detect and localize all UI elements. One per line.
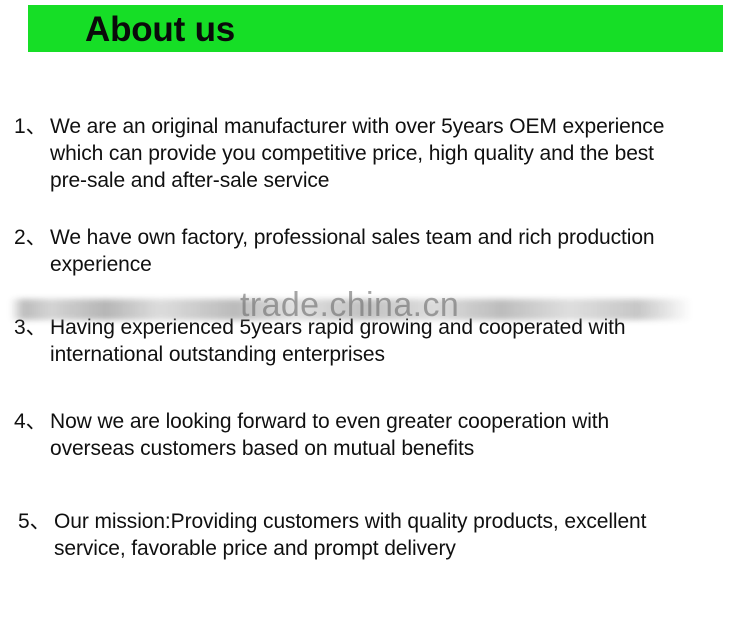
about-us-list: 1、 We are an original manufacturer with … bbox=[0, 113, 750, 562]
list-item-marker: 3、 bbox=[14, 314, 50, 341]
list-item-marker: 4、 bbox=[14, 408, 50, 435]
about-us-page: About us 1、 We are an original manufactu… bbox=[0, 0, 750, 636]
list-item-text: Now we are looking forward to even great… bbox=[50, 408, 722, 462]
list-item-row: 4、 Now we are looking forward to even gr… bbox=[0, 408, 750, 462]
list-item-text: We are an original manufacturer with ove… bbox=[50, 113, 722, 194]
list-item: 3、 Having experienced 5years rapid growi… bbox=[0, 314, 750, 368]
list-item-marker: 1、 bbox=[14, 113, 50, 140]
list-item-text: We have own factory, professional sales … bbox=[50, 224, 722, 278]
list-item-row: 3、 Having experienced 5years rapid growi… bbox=[0, 314, 750, 368]
list-item: 1、 We are an original manufacturer with … bbox=[0, 113, 750, 194]
list-item-marker: 5、 bbox=[18, 508, 54, 535]
list-item: 5、 Our mission:Providing customers with … bbox=[0, 508, 750, 562]
list-item-row: 2、 We have own factory, professional sal… bbox=[0, 224, 750, 278]
list-item: 2、 We have own factory, professional sal… bbox=[0, 224, 750, 278]
header-banner: About us bbox=[28, 5, 723, 52]
list-item-row: 1、 We are an original manufacturer with … bbox=[0, 113, 750, 194]
page-title: About us bbox=[85, 9, 235, 51]
list-item-text: Our mission:Providing customers with qua… bbox=[54, 508, 726, 562]
list-item-marker: 2、 bbox=[14, 224, 50, 251]
list-item-text: Having experienced 5years rapid growing … bbox=[50, 314, 722, 368]
list-item: 4、 Now we are looking forward to even gr… bbox=[0, 408, 750, 462]
list-item-row: 5、 Our mission:Providing customers with … bbox=[0, 508, 750, 562]
